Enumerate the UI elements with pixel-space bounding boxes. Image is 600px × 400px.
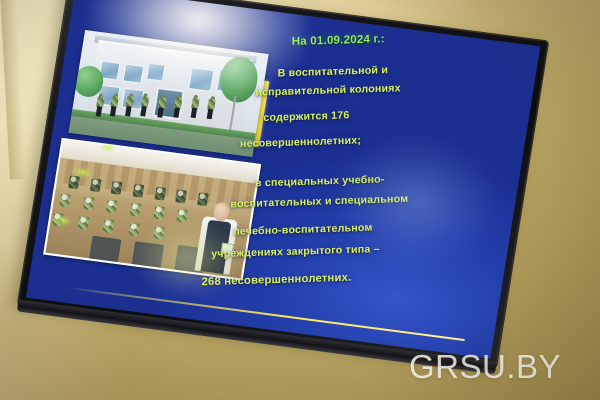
audience-member [129,202,141,216]
audience-member [77,216,89,230]
screenshot-root: На 01.09.2024 г.: В воспитательной и исп… [0,0,600,400]
slide-heading: На 01.09.2024 г.: [292,33,385,49]
audience-member [154,187,166,201]
presentation-slide: На 01.09.2024 г.: В воспитательной и исп… [26,0,540,359]
slide-line-5: в специальных учебно- [255,174,385,190]
window [122,63,144,84]
audience-member [83,196,95,210]
slide-line-2: исправительной колониях [255,83,401,100]
window [189,67,214,91]
audience-member [132,184,144,198]
audience-member [176,208,188,222]
wall-mounted-television: На 01.09.2024 г.: В воспитательной и исп… [18,0,548,367]
auditorium-chair [131,241,164,267]
slide-line-7: лечебно-воспитательном [233,222,373,239]
slide-line-6: воспитательных и специальном [230,193,408,211]
tv-screen: На 01.09.2024 г.: В воспитательной и исп… [26,0,540,359]
watermark-grsu-by: GRSU.BY [409,348,561,386]
window [146,63,166,82]
auditorium-chair [89,236,122,262]
photo-marching-cadets [69,30,269,157]
audience-member [89,178,101,192]
audience-member [153,205,165,219]
slide-line-3: содержится 176 [263,109,349,124]
audience-member [68,176,80,190]
slide-line-1: В воспитательной и [277,64,387,80]
audience-member [128,222,140,236]
